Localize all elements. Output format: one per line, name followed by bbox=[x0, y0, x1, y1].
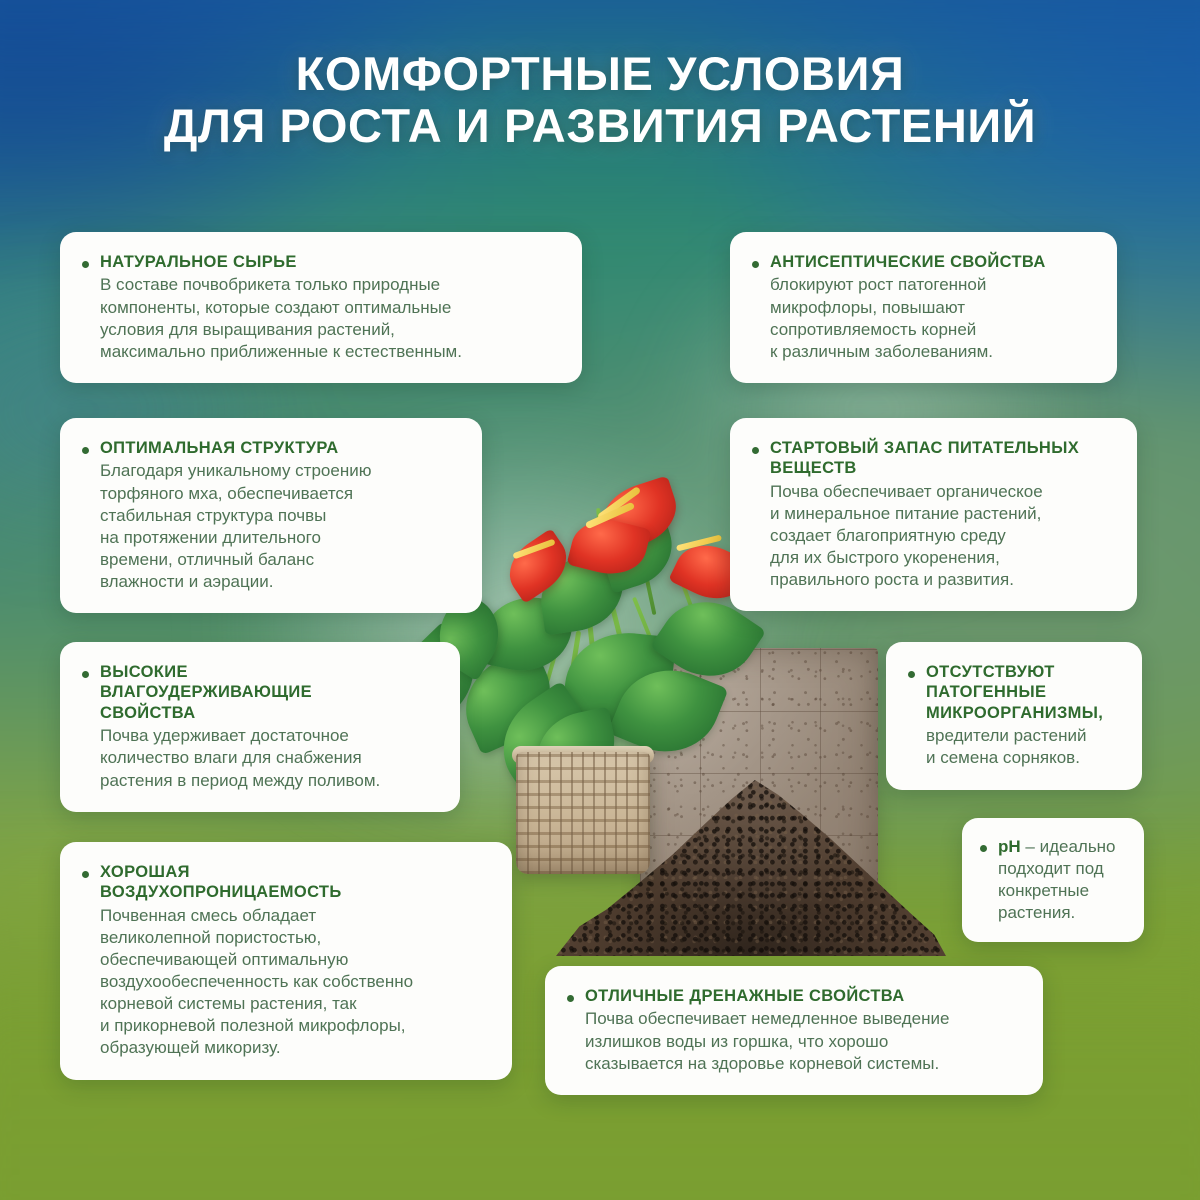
feature-card-ph-level: pH – идеально подходит под конкретные ра… bbox=[962, 818, 1144, 942]
bullet-icon bbox=[908, 671, 915, 678]
bullet-icon bbox=[980, 845, 987, 852]
card-heading: pH bbox=[998, 837, 1021, 856]
card-heading: НАТУРАЛЬНОЕ СЫРЬЕ bbox=[100, 252, 560, 272]
card-body: Почва удерживает достаточное количество … bbox=[100, 725, 438, 791]
feature-card-antiseptic-properties: АНТИСЕПТИЧЕСКИЕ СВОЙСТВА блокируют рост … bbox=[730, 232, 1117, 383]
card-body: В составе почвобрикета только природные … bbox=[100, 274, 560, 362]
card-body: Почва обеспечивает немедленное выведение… bbox=[585, 1008, 1021, 1074]
card-heading: ВЫСОКИЕ ВЛАГОУДЕРЖИВАЮЩИЕ СВОЙСТВА bbox=[100, 662, 438, 723]
feature-card-no-pathogens: ОТСУТСТВУЮТ ПАТОГЕННЫЕ МИКРООРГАНИЗМЫ, в… bbox=[886, 642, 1142, 790]
bullet-icon bbox=[82, 447, 89, 454]
infographic-poster: КОМФОРТНЫЕ УСЛОВИЯ ДЛЯ РОСТА И РАЗВИТИЯ … bbox=[0, 0, 1200, 1200]
bullet-icon bbox=[82, 871, 89, 878]
card-body: Почва обеспечивает органическое и минера… bbox=[770, 481, 1115, 591]
card-body: Благодаря уникальному строению торфяного… bbox=[100, 460, 460, 593]
feature-card-optimal-structure: ОПТИМАЛЬНАЯ СТРУКТУРА Благодаря уникальн… bbox=[60, 418, 482, 613]
feature-card-air-permeability: ХОРОШАЯ ВОЗДУХОПРОНИЦАЕМОСТЬ Почвенная с… bbox=[60, 842, 512, 1080]
feature-card-moisture-retention: ВЫСОКИЕ ВЛАГОУДЕРЖИВАЮЩИЕ СВОЙСТВА Почва… bbox=[60, 642, 460, 812]
bullet-icon bbox=[567, 995, 574, 1002]
bullet-icon bbox=[82, 261, 89, 268]
card-heading: ОТЛИЧНЫЕ ДРЕНАЖНЫЕ СВОЙСТВА bbox=[585, 986, 1021, 1006]
card-heading: СТАРТОВЫЙ ЗАПАС ПИТАТЕЛЬНЫХ ВЕЩЕСТВ bbox=[770, 438, 1115, 479]
card-heading: ОПТИМАЛЬНАЯ СТРУКТУРА bbox=[100, 438, 460, 458]
feature-card-drainage-properties: ОТЛИЧНЫЕ ДРЕНАЖНЫЕ СВОЙСТВА Почва обеспе… bbox=[545, 966, 1043, 1095]
card-heading: ОТСУТСТВУЮТ ПАТОГЕННЫЕ МИКРООРГАНИЗМЫ, bbox=[926, 662, 1120, 723]
bullet-icon bbox=[752, 447, 759, 454]
card-body: Почвенная смесь обладает великолепной по… bbox=[100, 905, 490, 1060]
feature-card-natural-raw-material: НАТУРАЛЬНОЕ СЫРЬЕ В составе почвобрикета… bbox=[60, 232, 582, 383]
card-body: вредители растений и семена сорняков. bbox=[926, 725, 1120, 769]
card-heading: ХОРОШАЯ ВОЗДУХОПРОНИЦАЕМОСТЬ bbox=[100, 862, 490, 903]
page-title: КОМФОРТНЫЕ УСЛОВИЯ ДЛЯ РОСТА И РАЗВИТИЯ … bbox=[0, 48, 1200, 151]
card-body: блокируют рост патогенной микрофлоры, по… bbox=[770, 274, 1095, 362]
bullet-icon bbox=[82, 671, 89, 678]
bullet-icon bbox=[752, 261, 759, 268]
feature-card-nutrient-reserve: СТАРТОВЫЙ ЗАПАС ПИТАТЕЛЬНЫХ ВЕЩЕСТВ Почв… bbox=[730, 418, 1137, 611]
woven-basket-pot-image bbox=[516, 752, 650, 874]
card-heading: АНТИСЕПТИЧЕСКИЕ СВОЙСТВА bbox=[770, 252, 1095, 272]
